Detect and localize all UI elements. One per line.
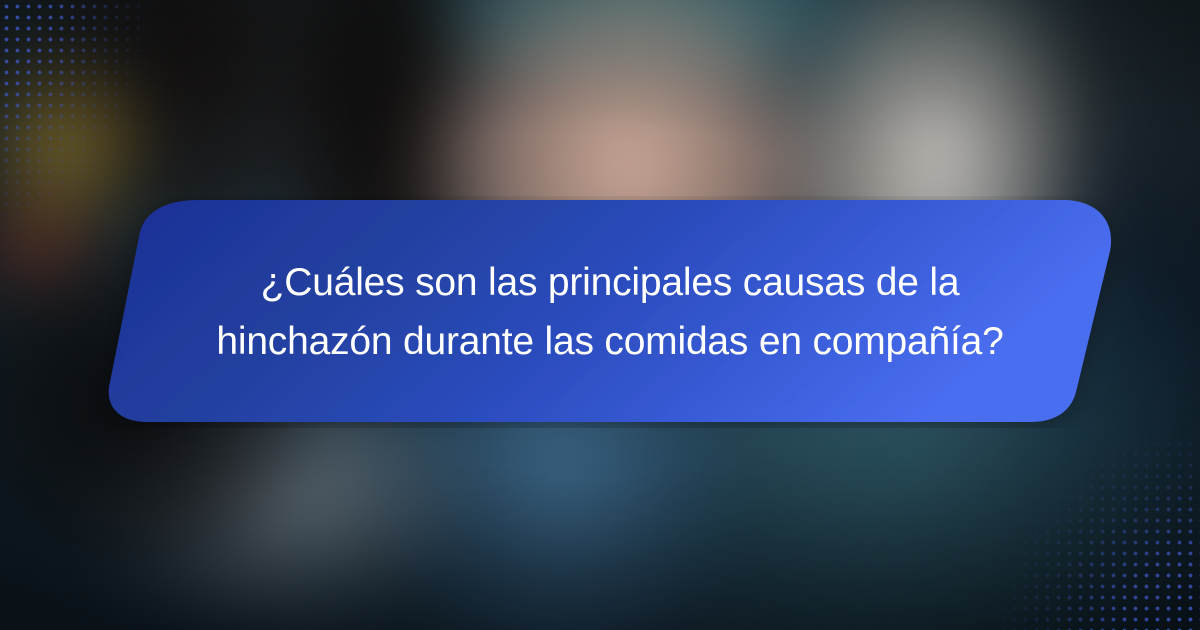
question-line-1: ¿Cuáles son las principales causas de la [261, 259, 960, 306]
question-text-block: ¿Cuáles son las principales causas de la… [150, 196, 1070, 428]
question-card: ¿Cuáles son las principales causas de la… [0, 196, 1200, 428]
question-line-2: hinchazón durante las comidas en compañí… [216, 318, 1003, 365]
share-card-canvas: ¿Cuáles son las principales causas de la… [0, 0, 1200, 630]
